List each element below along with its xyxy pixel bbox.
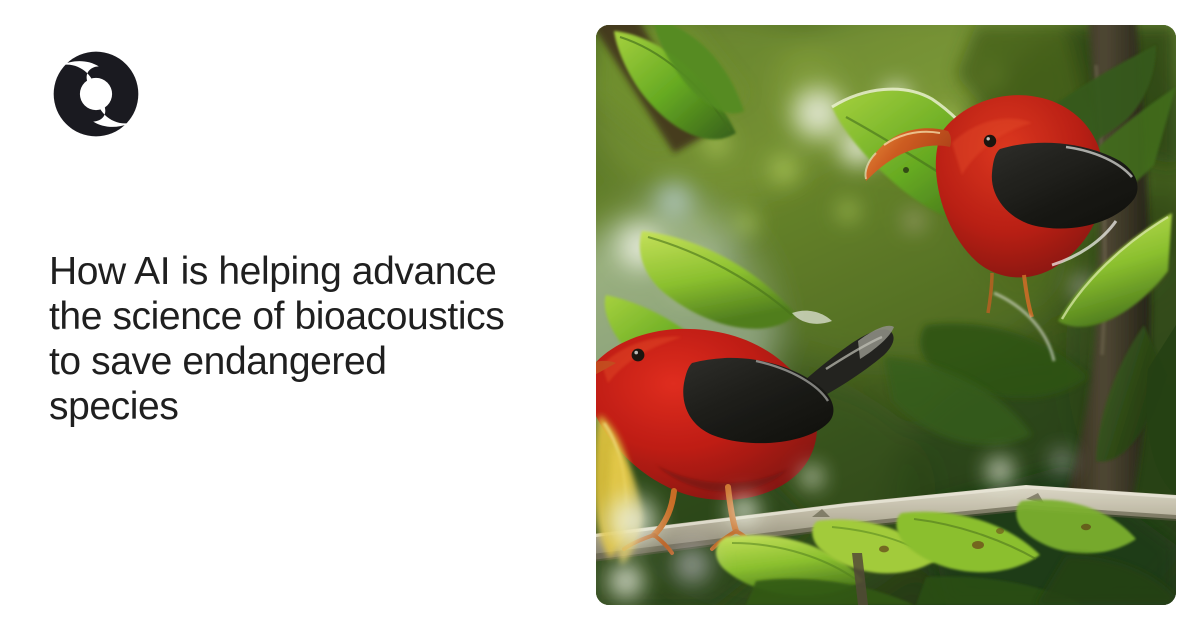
- swirl-circle-logo-icon: [50, 48, 142, 140]
- iiwi-birds-photo: [596, 25, 1176, 605]
- left-content-panel: How AI is helping advance the science of…: [0, 0, 596, 630]
- brand-logo[interactable]: [50, 48, 142, 140]
- page-title: How AI is helping advance the science of…: [49, 249, 569, 429]
- article-hero-image: [596, 25, 1176, 605]
